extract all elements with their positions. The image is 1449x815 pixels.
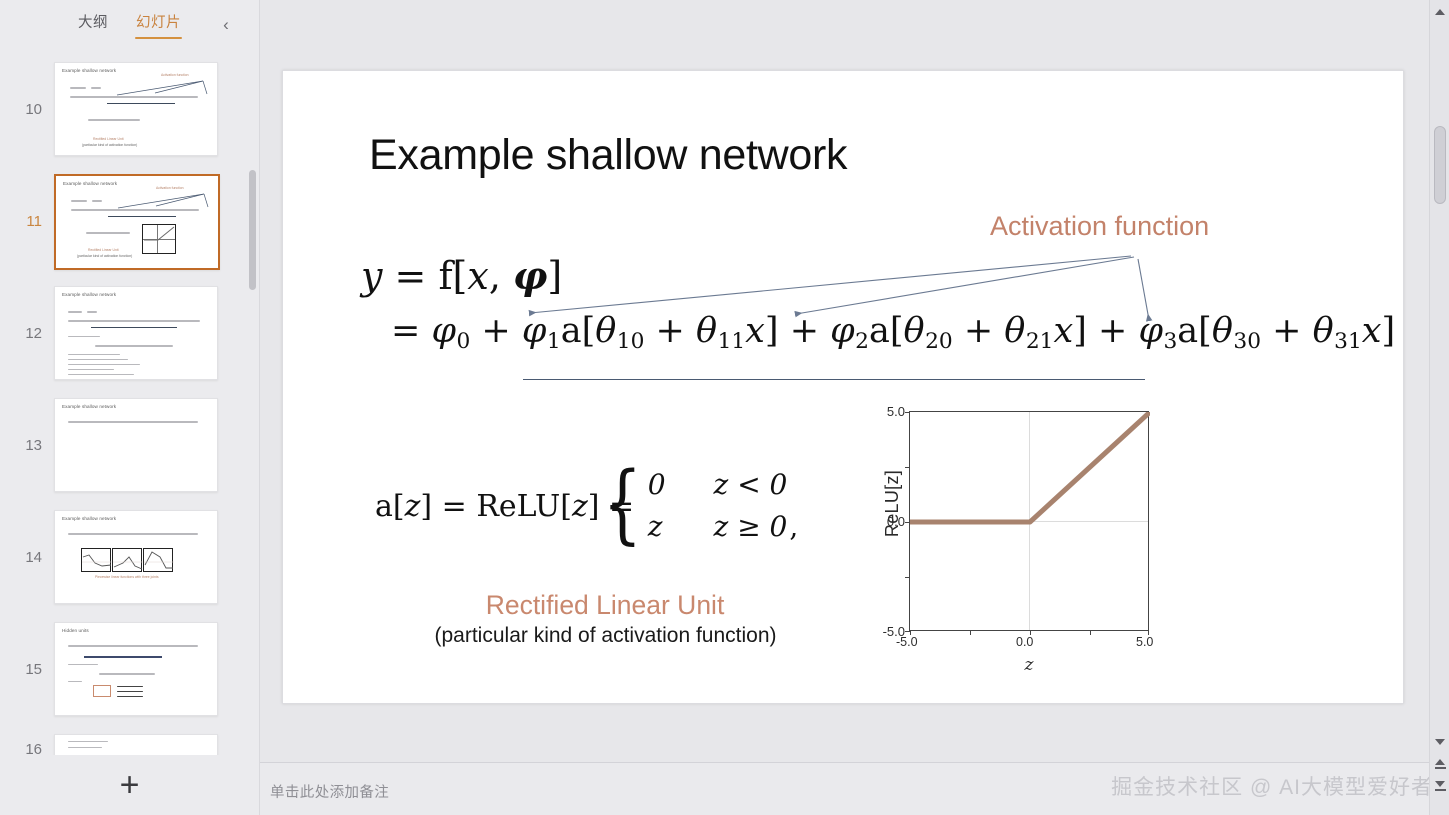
mini-rule <box>107 103 175 104</box>
mini-text-line <box>68 369 114 370</box>
mini-text-line <box>68 354 120 355</box>
slide-thumbnail[interactable]: Example shallow network <box>54 398 218 492</box>
slide-thumbnail[interactable]: Example shallow network <box>54 286 218 380</box>
left-brace-glyph: { <box>603 471 642 538</box>
slide-canvas[interactable]: Example shallow network Activation funct… <box>282 70 1404 704</box>
case-value: z <box>648 505 666 547</box>
relu-subtitle-label: (particular kind of activation function) <box>373 624 838 648</box>
scroll-down-arrow-icon[interactable] <box>1430 731 1449 753</box>
thumbnail-title: Hidden units <box>62 628 89 633</box>
mini-text-line <box>68 311 82 313</box>
next-slide-icon <box>1435 781 1446 791</box>
piecewise-cases: { 0 z z < 0 z ≥ 0 , <box>595 463 798 547</box>
slide-thumbnail[interactable]: Hidden units <box>54 622 218 716</box>
mini-text-line <box>68 645 198 647</box>
mini-text-line <box>117 686 143 687</box>
list-item[interactable]: 13 Example shallow network <box>0 398 259 494</box>
triangle-down-icon <box>1435 781 1445 787</box>
mini-activation-label: Activation function <box>161 73 189 77</box>
chart-plot-area: 5.0 0.0 -5.0 -5.0 0.0 5.0 <box>909 411 1149 631</box>
slide-number: 16 <box>0 742 54 755</box>
mini-text-line <box>68 664 98 665</box>
list-item-selected[interactable]: 11 Example shallow network Rectified Lin… <box>0 174 259 270</box>
mini-text-line <box>91 87 101 89</box>
thumbnail-caption-sub: (particular kind of activation function) <box>82 143 137 147</box>
cases-body: 0 z z < 0 z ≥ 0 , <box>648 463 799 547</box>
mini-text-line <box>68 741 108 742</box>
case-conditions: z < 0 z ≥ 0 <box>714 463 788 547</box>
slide-thumbnail[interactable] <box>54 734 218 755</box>
thumbnail-title: Example shallow network <box>63 181 117 186</box>
thumbnail-caption: Piecewise linear functions with three jo… <box>95 575 159 579</box>
mini-text-line <box>68 320 200 322</box>
list-item[interactable]: 12 Example shallow network <box>0 286 259 382</box>
scroll-up-arrow-icon[interactable] <box>1430 4 1449 20</box>
slide-number: 15 <box>0 662 54 677</box>
chart-tick-mark <box>1090 630 1091 635</box>
relu-name-label: Rectified Linear Unit <box>420 590 790 621</box>
mini-text-line <box>68 336 100 337</box>
case-condition: z ≥ 0 <box>714 505 788 547</box>
thumbnail-title: Example shallow network <box>62 516 116 521</box>
triangle-up-icon <box>1435 759 1445 765</box>
chart-tick-mark <box>905 522 910 523</box>
collapse-panel-chevron-icon[interactable]: ‹ <box>215 13 237 35</box>
mini-arrow-group <box>115 79 211 97</box>
slide-number: 10 <box>0 102 54 117</box>
mini-text-line <box>68 421 198 423</box>
slide-editor-area: Example shallow network Activation funct… <box>260 0 1449 815</box>
chart-tick-mark <box>905 467 910 468</box>
case-value: 0 <box>648 463 666 505</box>
chart-y-tick: 0.0 <box>887 514 905 529</box>
triangle-down-icon <box>1435 739 1445 745</box>
chart-tick-mark <box>905 412 910 413</box>
bar-glyph <box>1435 789 1446 791</box>
thumbnail-title: Example shallow network <box>62 68 116 73</box>
chart-tick-mark <box>905 577 910 578</box>
mini-rule <box>84 656 162 658</box>
mini-chart-1 <box>81 548 111 572</box>
chart-series-relu <box>910 412 1150 632</box>
slide-thumbnail-active[interactable]: Example shallow network Rectified Linear… <box>54 174 220 270</box>
tab-outline[interactable]: 大纲 <box>75 7 111 39</box>
equation-y-definition: y = f[x, φ] <box>361 253 562 298</box>
add-slide-button[interactable]: + <box>0 755 259 815</box>
slides-sidebar: 大纲 幻灯片 ‹ 10 Example shallow network Rect… <box>0 0 260 815</box>
notes-placeholder-text: 单击此处添加备注 <box>270 781 389 802</box>
mini-chart-2 <box>112 548 142 572</box>
mini-text-line <box>70 87 86 89</box>
slide-number: 13 <box>0 438 54 453</box>
prev-slide-icon <box>1435 759 1446 769</box>
mini-text-line <box>86 232 130 234</box>
mini-arrow-group <box>116 192 212 210</box>
slide-thumbnail[interactable]: Example shallow network Rectified Linear… <box>54 62 218 156</box>
mini-rule <box>91 327 177 328</box>
mini-activation-label: Activation function <box>156 186 184 190</box>
sidebar-tab-strip: 大纲 幻灯片 ‹ <box>0 0 259 46</box>
list-item[interactable]: 16 <box>0 734 259 755</box>
thumbnail-title: Example shallow network <box>62 292 116 297</box>
notes-pane[interactable]: 单击此处添加备注 掘金技术社区 @ AI大模型爱好者 <box>260 763 1449 815</box>
slide-thumbnail[interactable]: Example shallow network <box>54 510 218 604</box>
chart-x-tick: -5.0 <box>896 635 918 649</box>
mini-text-line <box>68 681 82 682</box>
mini-text-line <box>68 359 128 360</box>
slide-number: 12 <box>0 326 54 341</box>
mini-hidden-units-label <box>93 685 111 697</box>
scrollbar-thumb[interactable] <box>1434 126 1446 204</box>
next-slide-button[interactable] <box>1430 775 1449 797</box>
activation-function-callout: Activation function <box>990 211 1209 242</box>
thumbnail-caption-sub: (particular kind of activation function) <box>77 254 132 258</box>
horizontal-rule <box>523 379 1145 380</box>
thumbnail-caption: Rectified Linear Unit <box>88 248 119 252</box>
triangle-up-icon <box>1435 9 1445 15</box>
chart-y-tick: 5.0 <box>887 404 905 419</box>
mini-text-line <box>68 747 102 748</box>
mini-text-line <box>92 200 102 202</box>
mini-text-line <box>87 311 97 313</box>
sidebar-scrollbar-thumb[interactable] <box>249 170 256 290</box>
watermark-text: 掘金技术社区 @ AI大模型爱好者 <box>1111 771 1433 801</box>
mini-text-line <box>68 374 134 375</box>
list-item[interactable]: 15 Hidden units <box>0 622 259 718</box>
thumbnail-scroll-area[interactable]: 10 Example shallow network Rectified Lin… <box>0 46 259 755</box>
plus-icon: + <box>120 768 140 802</box>
mini-text-line <box>117 696 143 697</box>
chart-tick-mark <box>970 630 971 635</box>
equation-tail-comma: , <box>789 510 798 543</box>
chart-x-tick: 0.0 <box>1016 635 1033 649</box>
case-condition: z < 0 <box>714 463 788 505</box>
mini-chart-3 <box>143 548 173 572</box>
mini-text-line <box>117 691 143 692</box>
mini-relu-plot <box>142 224 176 254</box>
presentation-editor-window: 大纲 幻灯片 ‹ 10 Example shallow network Rect… <box>0 0 1449 815</box>
mini-text-line <box>68 364 140 365</box>
bar-glyph <box>1435 767 1446 769</box>
list-item[interactable]: 10 Example shallow network Rectified Lin… <box>0 62 259 158</box>
relu-chart: ReLU[z] 5.0 0.0 -5.0 <box>863 401 1163 691</box>
thumbnail-title: Example shallow network <box>62 404 116 409</box>
previous-slide-button[interactable] <box>1430 753 1449 775</box>
thumbnail-caption: Rectified Linear Unit <box>93 137 124 141</box>
thumbnail-list: 10 Example shallow network Rectified Lin… <box>0 46 259 755</box>
mini-rule <box>108 216 176 217</box>
slide-number: 14 <box>0 550 54 565</box>
chart-x-axis-label: z <box>909 655 1149 675</box>
slide-number: 11 <box>0 214 54 229</box>
case-values: 0 z <box>648 463 666 547</box>
mini-text-line <box>68 533 198 535</box>
list-item[interactable]: 14 Example shallow network <box>0 510 259 606</box>
mini-text-line <box>88 119 140 121</box>
mini-text-line <box>95 345 173 347</box>
vertical-scrollbar[interactable] <box>1429 0 1449 815</box>
equation-network-expansion: = φ0 + φ1a[θ10 + θ11x] + φ2a[θ20 + θ21x]… <box>391 311 1395 354</box>
mini-text-line <box>99 673 155 675</box>
mini-text-line <box>71 200 87 202</box>
page-title: Example shallow network <box>369 131 847 180</box>
chart-x-tick: 5.0 <box>1136 635 1153 649</box>
tab-slides[interactable]: 幻灯片 <box>133 7 184 39</box>
